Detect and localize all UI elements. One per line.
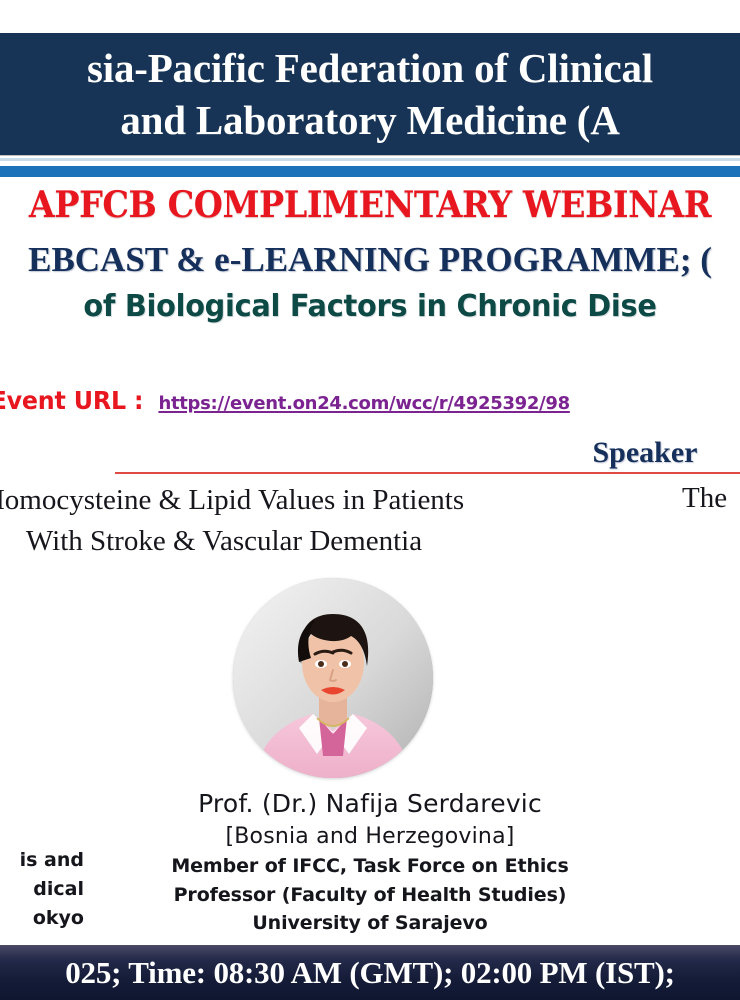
section-divider-rule <box>115 472 740 474</box>
webinar-title: APFCB COMPLIMENTARY WEBINAR <box>0 184 740 226</box>
speaker-portrait-illustration <box>233 578 433 778</box>
blue-divider-strip <box>0 166 740 177</box>
clipped-left-line-1: is and <box>0 846 84 875</box>
speaker-affiliation-1: Member of IFCC, Task Force on Ethics <box>0 852 740 881</box>
clipped-left-host-block: is and dical okyo <box>0 846 84 933</box>
speaker-affiliation-3: University of Sarajevo <box>0 909 740 938</box>
talk-title-line-1: Homocysteine & Lipid Values in Patients <box>0 480 560 521</box>
event-url-link[interactable]: https://event.on24.com/wcc/r/4925392/98 <box>158 393 569 414</box>
speaker-photo <box>233 578 433 778</box>
talk-title: Homocysteine & Lipid Values in Patients … <box>0 480 560 562</box>
clipped-right-text: The <box>682 482 727 515</box>
speaker-name: Prof. (Dr.) Nafija Serdarevic <box>0 787 740 821</box>
speaker-country: [Bosnia and Herzegovina] <box>0 821 740 852</box>
date-time-text: 025; Time: 08:30 AM (GMT); 02:00 PM (IST… <box>65 955 675 991</box>
organisation-banner: sia-Pacific Federation of Clinical and L… <box>0 33 740 155</box>
organisation-name-line-2: and Laboratory Medicine (A <box>120 94 619 146</box>
topic-line: of Biological Factors in Chronic Dise <box>0 289 740 324</box>
talk-title-line-2: With Stroke & Vascular Dementia <box>0 521 560 562</box>
speaker-heading-text: Speaker <box>593 436 698 469</box>
webinar-poster: sia-Pacific Federation of Clinical and L… <box>0 0 740 1000</box>
speaker-section-heading: Speaker <box>0 436 740 470</box>
registration-label: Here; Event URL : <box>0 386 143 415</box>
banner-hairline <box>0 158 740 161</box>
webcast-programme-line: EBCAST & e-LEARNING PROGRAMME; ( <box>0 240 740 280</box>
speaker-affiliation-2: Professor (Faculty of Health Studies) <box>0 881 740 910</box>
date-time-footer-bar: 025; Time: 08:30 AM (GMT); 02:00 PM (IST… <box>0 945 740 1000</box>
clipped-left-line-3: okyo <box>0 904 84 933</box>
organisation-name-line-1: sia-Pacific Federation of Clinical <box>87 42 653 94</box>
clipped-left-line-2: dical <box>0 875 84 904</box>
registration-url-row: Here; Event URL : https://event.on24.com… <box>0 386 740 415</box>
speaker-details: Prof. (Dr.) Nafija Serdarevic [Bosnia an… <box>0 787 740 938</box>
